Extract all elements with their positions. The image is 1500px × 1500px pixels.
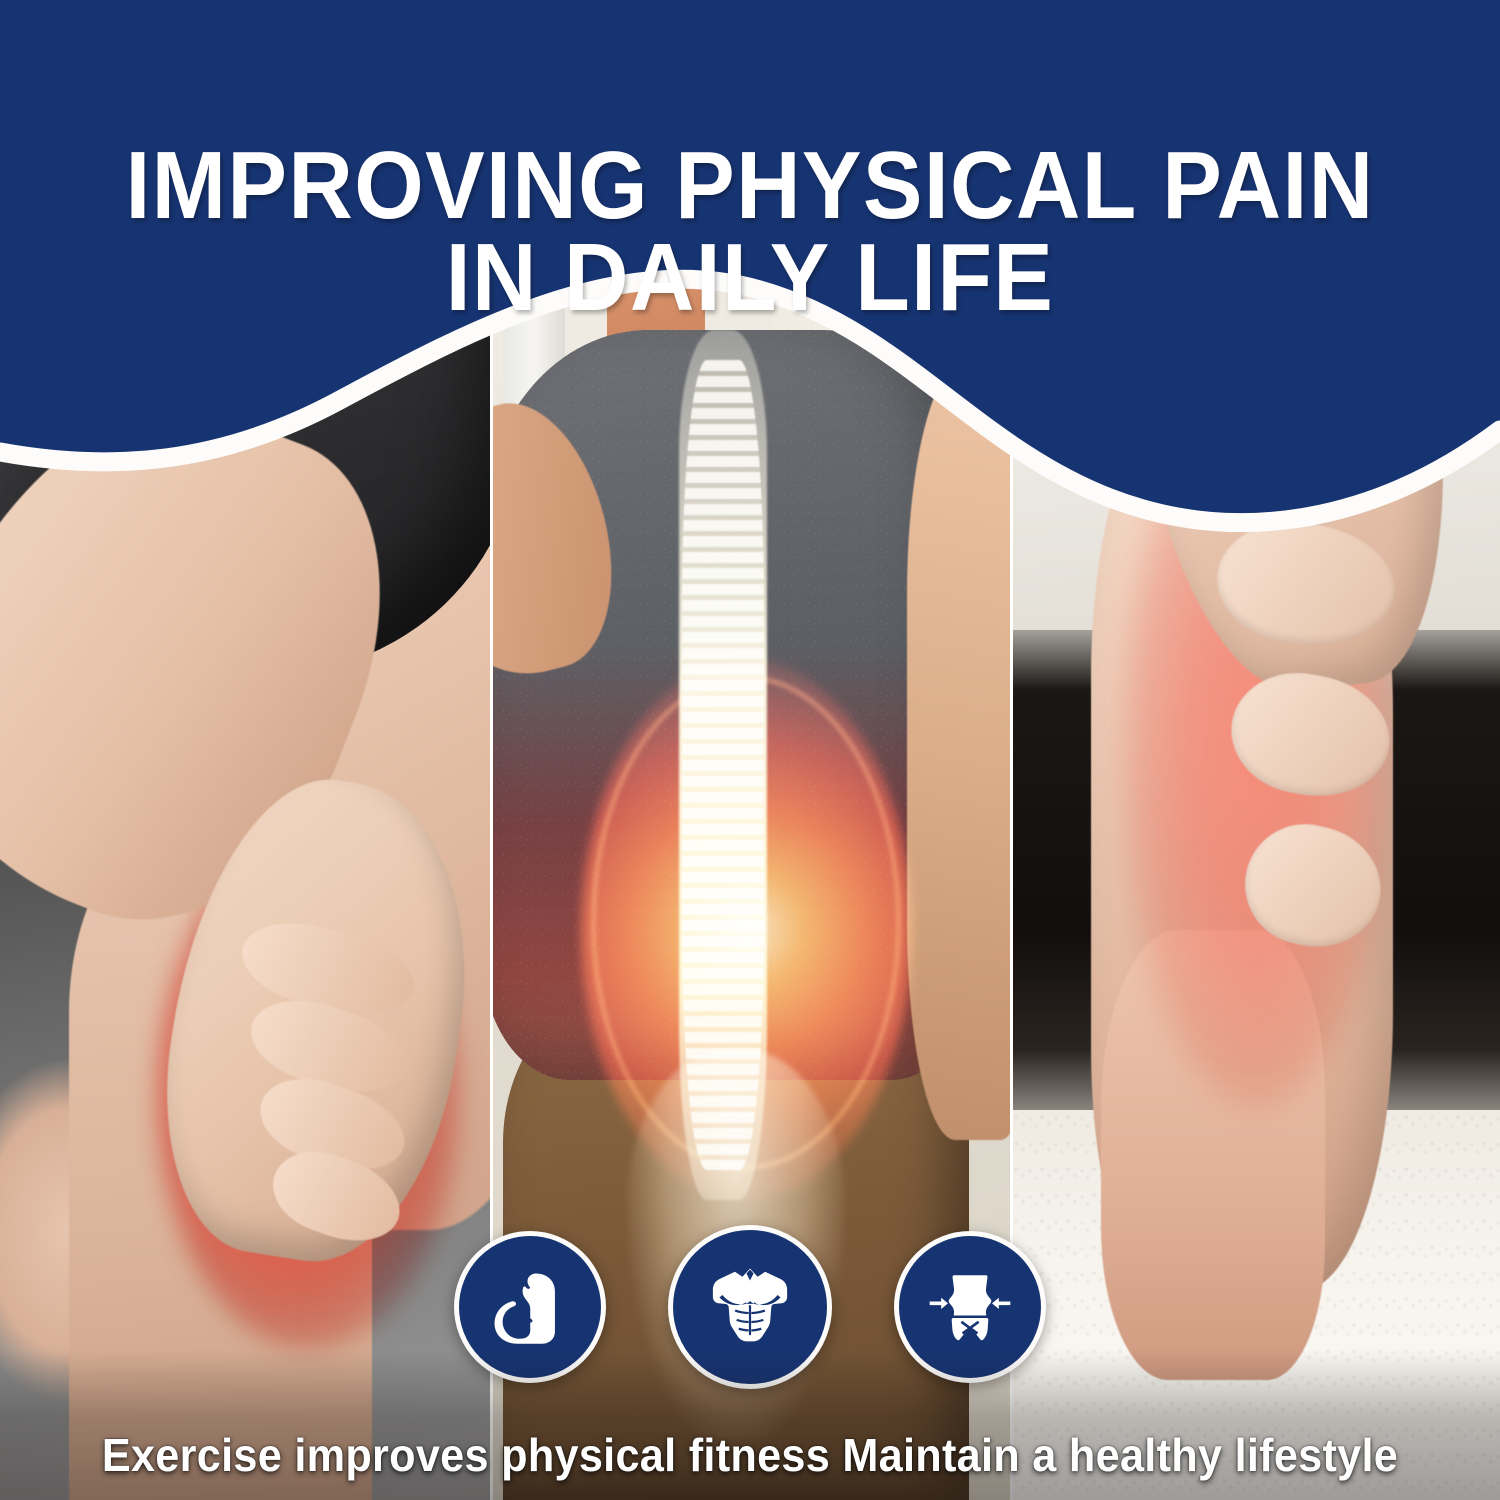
knee-fingers bbox=[235, 930, 460, 1230]
badge-core-abs[interactable] bbox=[668, 1225, 832, 1389]
promotional-poster: IMPROVING PHYSICAL PAIN IN DAILY LIFE bbox=[0, 0, 1500, 1500]
slim-waist-icon bbox=[926, 1266, 1014, 1348]
headline-line-1: IMPROVING PHYSICAL PAIN bbox=[125, 132, 1374, 239]
xray-vertebrae bbox=[682, 360, 765, 1170]
poster-caption: Exercise improves physical fitness Maint… bbox=[45, 1428, 1455, 1482]
badge-body-shaping[interactable] bbox=[894, 1231, 1046, 1383]
headline-line-2: IN DAILY LIFE bbox=[53, 232, 1448, 324]
muscular-torso-icon bbox=[706, 1263, 794, 1351]
badge-muscle-strength[interactable] bbox=[454, 1231, 606, 1383]
flexed-bicep-icon bbox=[488, 1265, 572, 1349]
poster-headline: IMPROVING PHYSICAL PAIN IN DAILY LIFE bbox=[53, 140, 1448, 324]
back-person-right-arm bbox=[907, 360, 1010, 1140]
foot-fingers bbox=[1208, 360, 1442, 990]
feature-badge-row bbox=[0, 1222, 1500, 1392]
